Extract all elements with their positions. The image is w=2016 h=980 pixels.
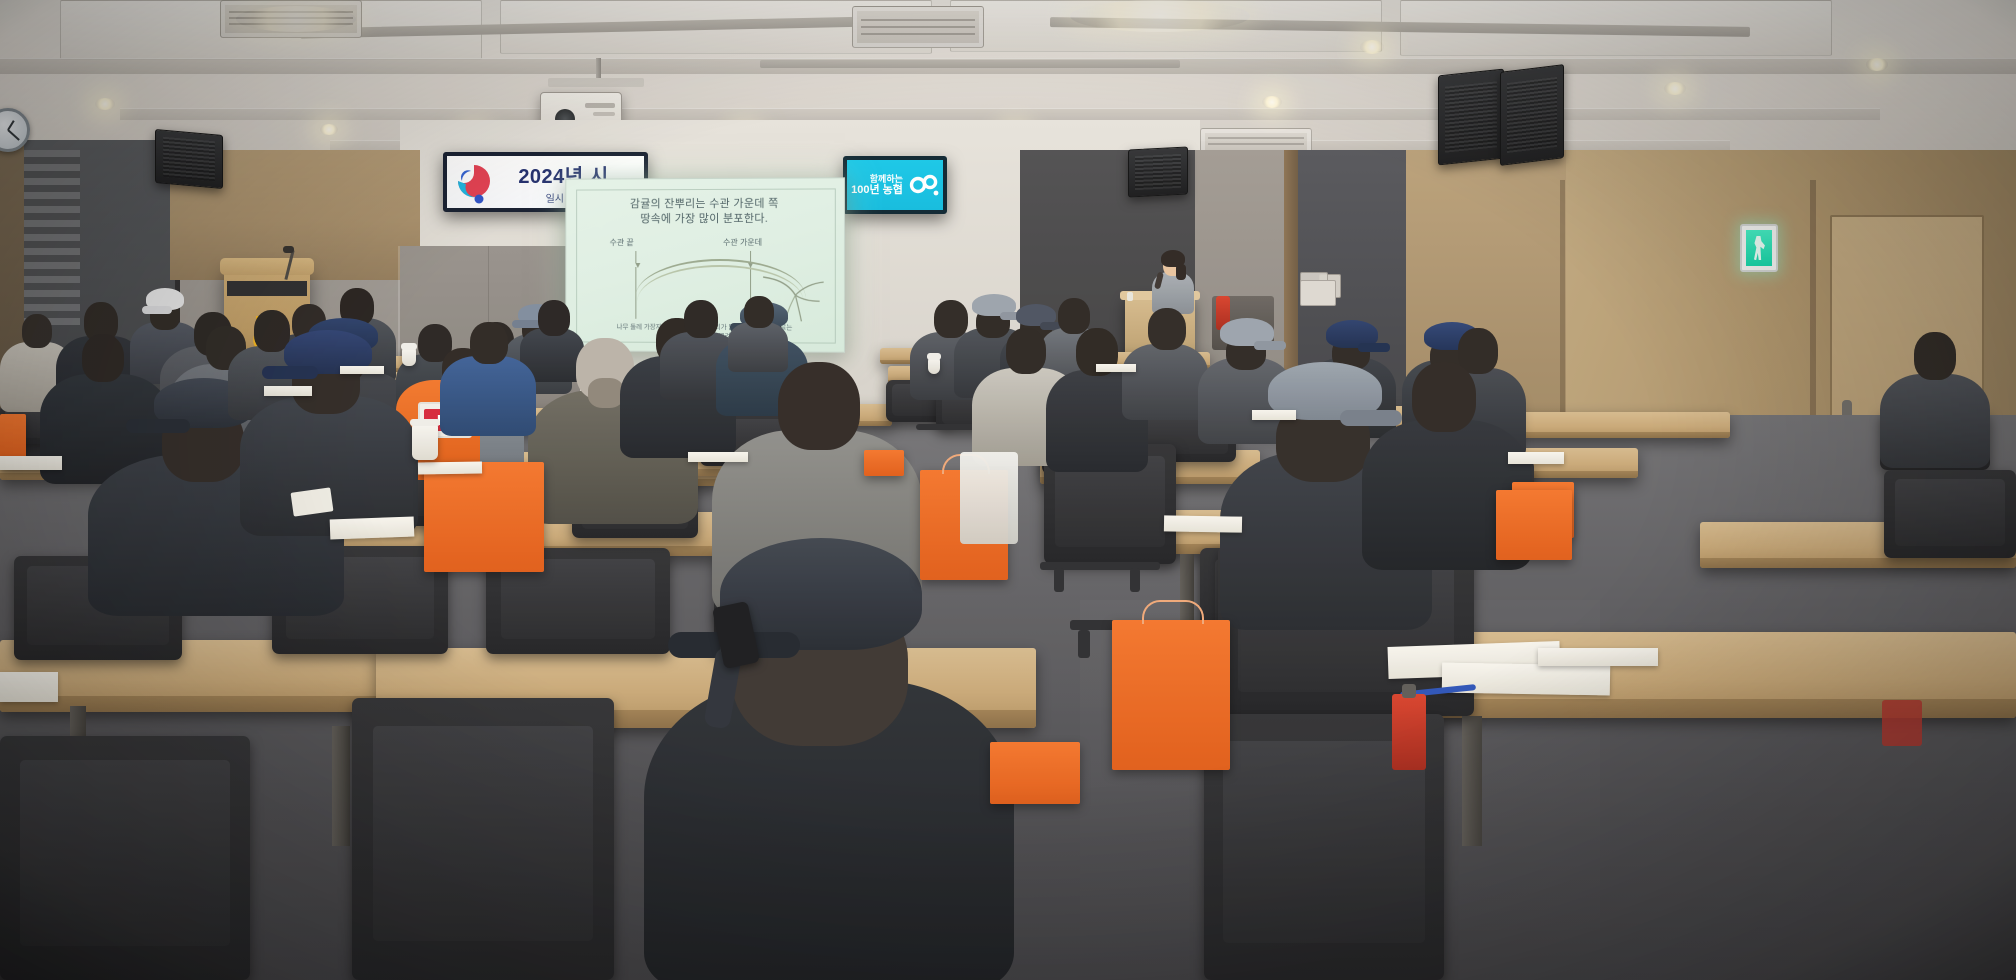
slogan-line-1: 함께하는 [851,174,903,184]
handout-paper [330,517,415,540]
handout-paper [340,366,384,374]
presenter-hair-side [1176,264,1186,280]
orange-gift-bag [990,742,1080,804]
ceiling-downlight [1866,58,1888,71]
chair-foreground[interactable] [352,698,614,980]
projector-mount-bracket [548,78,644,87]
slide-label-canopy-edge: 수관 끝 [610,237,634,248]
slide-label-canopy-center: 수관 가운데 [723,237,762,248]
female-presenter-at-lectern [1148,250,1196,312]
ceiling-downlight [1360,40,1384,54]
attendee-foreground-with-cap [644,530,1014,980]
ceiling-light-glow [236,6,356,32]
disposable-cup [402,348,416,366]
ceiling-speaker [1128,146,1188,197]
ceiling-speaker [155,129,223,189]
handout-paper [0,456,62,470]
emergency-exit-sign [1740,224,1778,272]
chair-caster [1130,568,1140,592]
fire-extinguisher [1392,694,1426,770]
ceiling-speaker [1438,69,1504,166]
navy-cap [1326,320,1378,348]
ceiling-air-vent [852,6,984,48]
attendee [1880,330,1990,460]
slide-heading-line-2: 땅속에 가장 많이 분포한다. [566,210,844,227]
chair[interactable] [1884,470,2016,558]
red-object [1882,700,1922,746]
ceiling-light-slot [760,60,1180,68]
handout-paper [0,672,58,702]
ceiling-light-glow [1070,0,1250,32]
nonghyup-slogan-monitor: 함께하는 100년 농협 [843,156,947,214]
chair-caster [1078,630,1090,658]
orange-gift-bag [1496,490,1572,560]
ceiling-soffit [120,108,1880,120]
hair-bun [588,378,624,408]
water-bottle [1127,292,1133,301]
ceiling-downlight [1664,82,1686,95]
projector-mount-pole [596,58,601,80]
table-leg [332,726,350,846]
handout-paper [1252,410,1296,420]
attendee [1122,308,1208,414]
seminar-hall-photo: 2024년 시 일시 : 20 함께하는 100년 농협 감귤의 잔뿌리는 수관… [0,0,2016,980]
chair-caster [1054,568,1064,592]
white-plastic-bag [960,452,1018,544]
chair-foreground[interactable] [0,736,250,980]
handout-paper [264,386,312,396]
handout-paper [1508,452,1564,464]
ceiling-speaker [1500,64,1564,166]
handout-paper [1538,648,1658,666]
disposable-cup [412,424,438,460]
white-cap [146,288,184,310]
extinguisher-valve [1402,684,1416,698]
ceiling-downlight [1262,96,1282,108]
handout-paper [688,452,748,462]
wall-equipment-panel [1300,280,1336,306]
orange-gift-bag [0,414,26,458]
orange-gift-bag [424,462,544,572]
handout-paper [1096,364,1136,372]
table-leg [1462,716,1482,846]
chair-base [916,424,976,430]
handout-paper [418,461,482,474]
diagram-pointer-left [635,251,636,263]
korea-taegeuk-swirl-logo [453,162,495,208]
handout-paper [1164,515,1242,532]
ceiling-downlight [320,124,338,135]
orange-gift-bag [1112,620,1230,770]
nh-infinity-logo [909,172,939,198]
disposable-cup [928,358,940,374]
slogan-line-2: 100년 농협 [851,184,903,197]
ceiling-downlight [95,98,115,110]
orange-gift-bag [864,450,904,476]
light-cap [1220,318,1274,346]
attendee [440,320,536,430]
lectern-microphone-head [283,246,294,253]
